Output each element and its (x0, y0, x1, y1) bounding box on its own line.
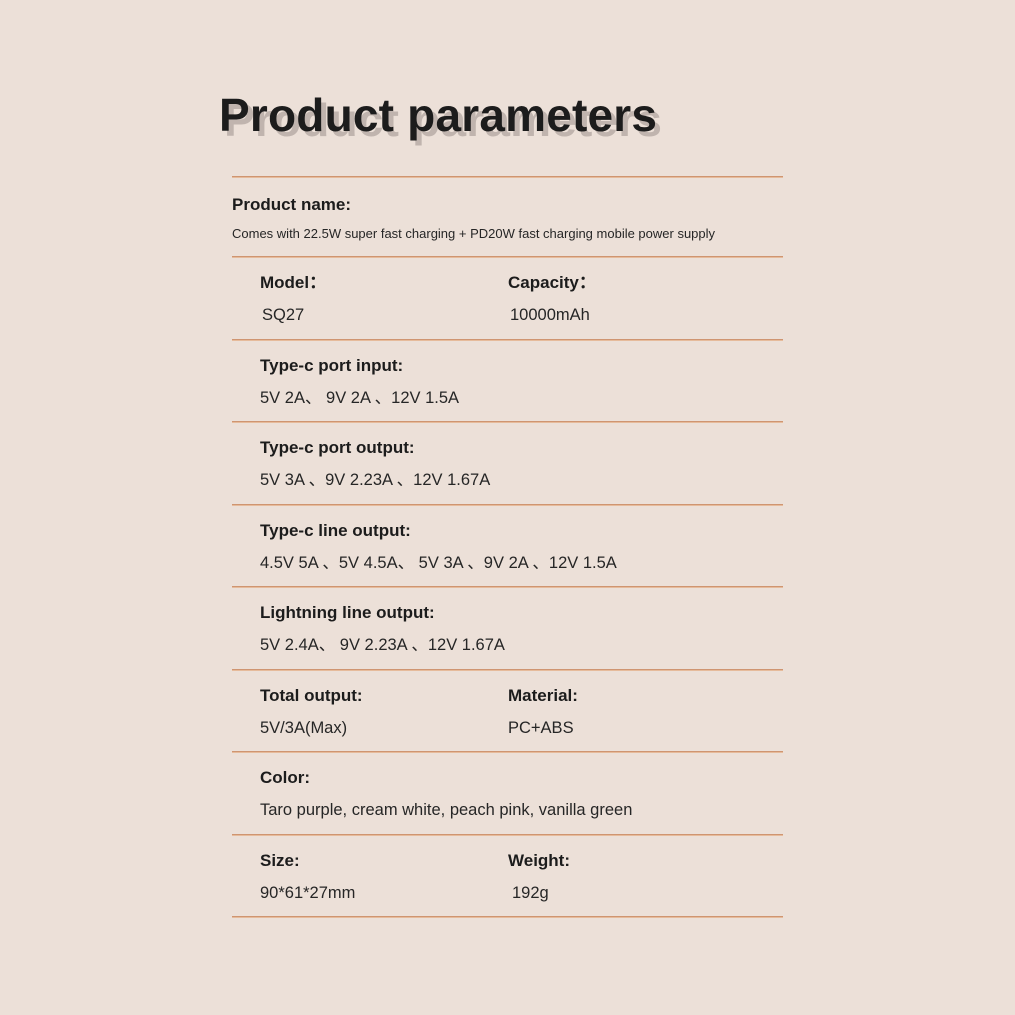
spec-value: 192g (508, 885, 783, 902)
spec-label: Lightning line output: (260, 604, 783, 621)
table-row: Color: Taro purple, cream white, peach p… (232, 753, 783, 834)
spec-cell: Type-c port output: 5V 3A 、9V 2.23A 、12V… (232, 439, 783, 489)
table-row: Type-c port input: 5V 2A、 9V 2A 、12V 1.5… (232, 341, 783, 422)
spec-cell: Type-c line output: 4.5V 5A 、5V 4.5A、 5V… (232, 522, 783, 572)
spec-value: 10000mAh (508, 307, 783, 324)
spec-label: Total output: (260, 687, 508, 704)
divider (232, 916, 783, 918)
spec-value: Comes with 22.5W super fast charging + P… (232, 227, 783, 240)
spec-cell: Model： SQ27 (232, 274, 508, 324)
table-row: Type-c line output: 4.5V 5A 、5V 4.5A、 5V… (232, 506, 783, 587)
spec-label: Material: (508, 687, 783, 704)
spec-cell: Capacity： 10000mAh (508, 274, 783, 324)
product-parameters-sheet: Product parameters Product name: Comes w… (0, 0, 1015, 1015)
spec-cell: Material: PC+ABS (508, 687, 783, 737)
spec-cell: Type-c port input: 5V 2A、 9V 2A 、12V 1.5… (232, 357, 783, 407)
table-row: Total output: 5V/3A(Max) Material: PC+AB… (232, 671, 783, 752)
table-row: Lightning line output: 5V 2.4A、 9V 2.23A… (232, 588, 783, 669)
spec-label: Model： (260, 274, 508, 291)
table-row: Size: 90*61*27mm Weight: 192g (232, 836, 783, 917)
spec-value: 5V 2.4A、 9V 2.23A 、12V 1.67A (260, 637, 783, 654)
spec-value: Taro purple, cream white, peach pink, va… (260, 802, 783, 819)
spec-label: Product name: (232, 196, 783, 213)
spec-label: Color: (260, 769, 783, 786)
spec-label: Weight: (508, 852, 783, 869)
spec-cell: Weight: 192g (508, 852, 783, 902)
table-row: Product name: Comes with 22.5W super fas… (232, 178, 783, 256)
spec-label: Type-c port input: (260, 357, 783, 374)
spec-label: Type-c line output: (260, 522, 783, 539)
spec-label: Size: (260, 852, 508, 869)
spec-cell: Size: 90*61*27mm (232, 852, 508, 902)
spec-value: PC+ABS (508, 720, 783, 737)
table-row: Model： SQ27 Capacity： 10000mAh (232, 258, 783, 339)
spec-value: SQ27 (260, 307, 508, 324)
spec-cell: Total output: 5V/3A(Max) (232, 687, 508, 737)
spec-value: 5V 2A、 9V 2A 、12V 1.5A (260, 390, 783, 407)
spec-value: 4.5V 5A 、5V 4.5A、 5V 3A 、9V 2A 、12V 1.5A (260, 555, 783, 572)
page-title: Product parameters (219, 88, 657, 142)
spec-cell: Lightning line output: 5V 2.4A、 9V 2.23A… (232, 604, 783, 654)
spec-value: 5V 3A 、9V 2.23A 、12V 1.67A (260, 472, 783, 489)
spec-table: Product name: Comes with 22.5W super fas… (232, 176, 783, 918)
table-row: Type-c port output: 5V 3A 、9V 2.23A 、12V… (232, 423, 783, 504)
spec-cell: Color: Taro purple, cream white, peach p… (232, 769, 783, 819)
spec-value: 5V/3A(Max) (260, 720, 508, 737)
spec-label: Type-c port output: (260, 439, 783, 456)
spec-label: Capacity： (508, 274, 783, 291)
spec-value: 90*61*27mm (260, 885, 508, 902)
